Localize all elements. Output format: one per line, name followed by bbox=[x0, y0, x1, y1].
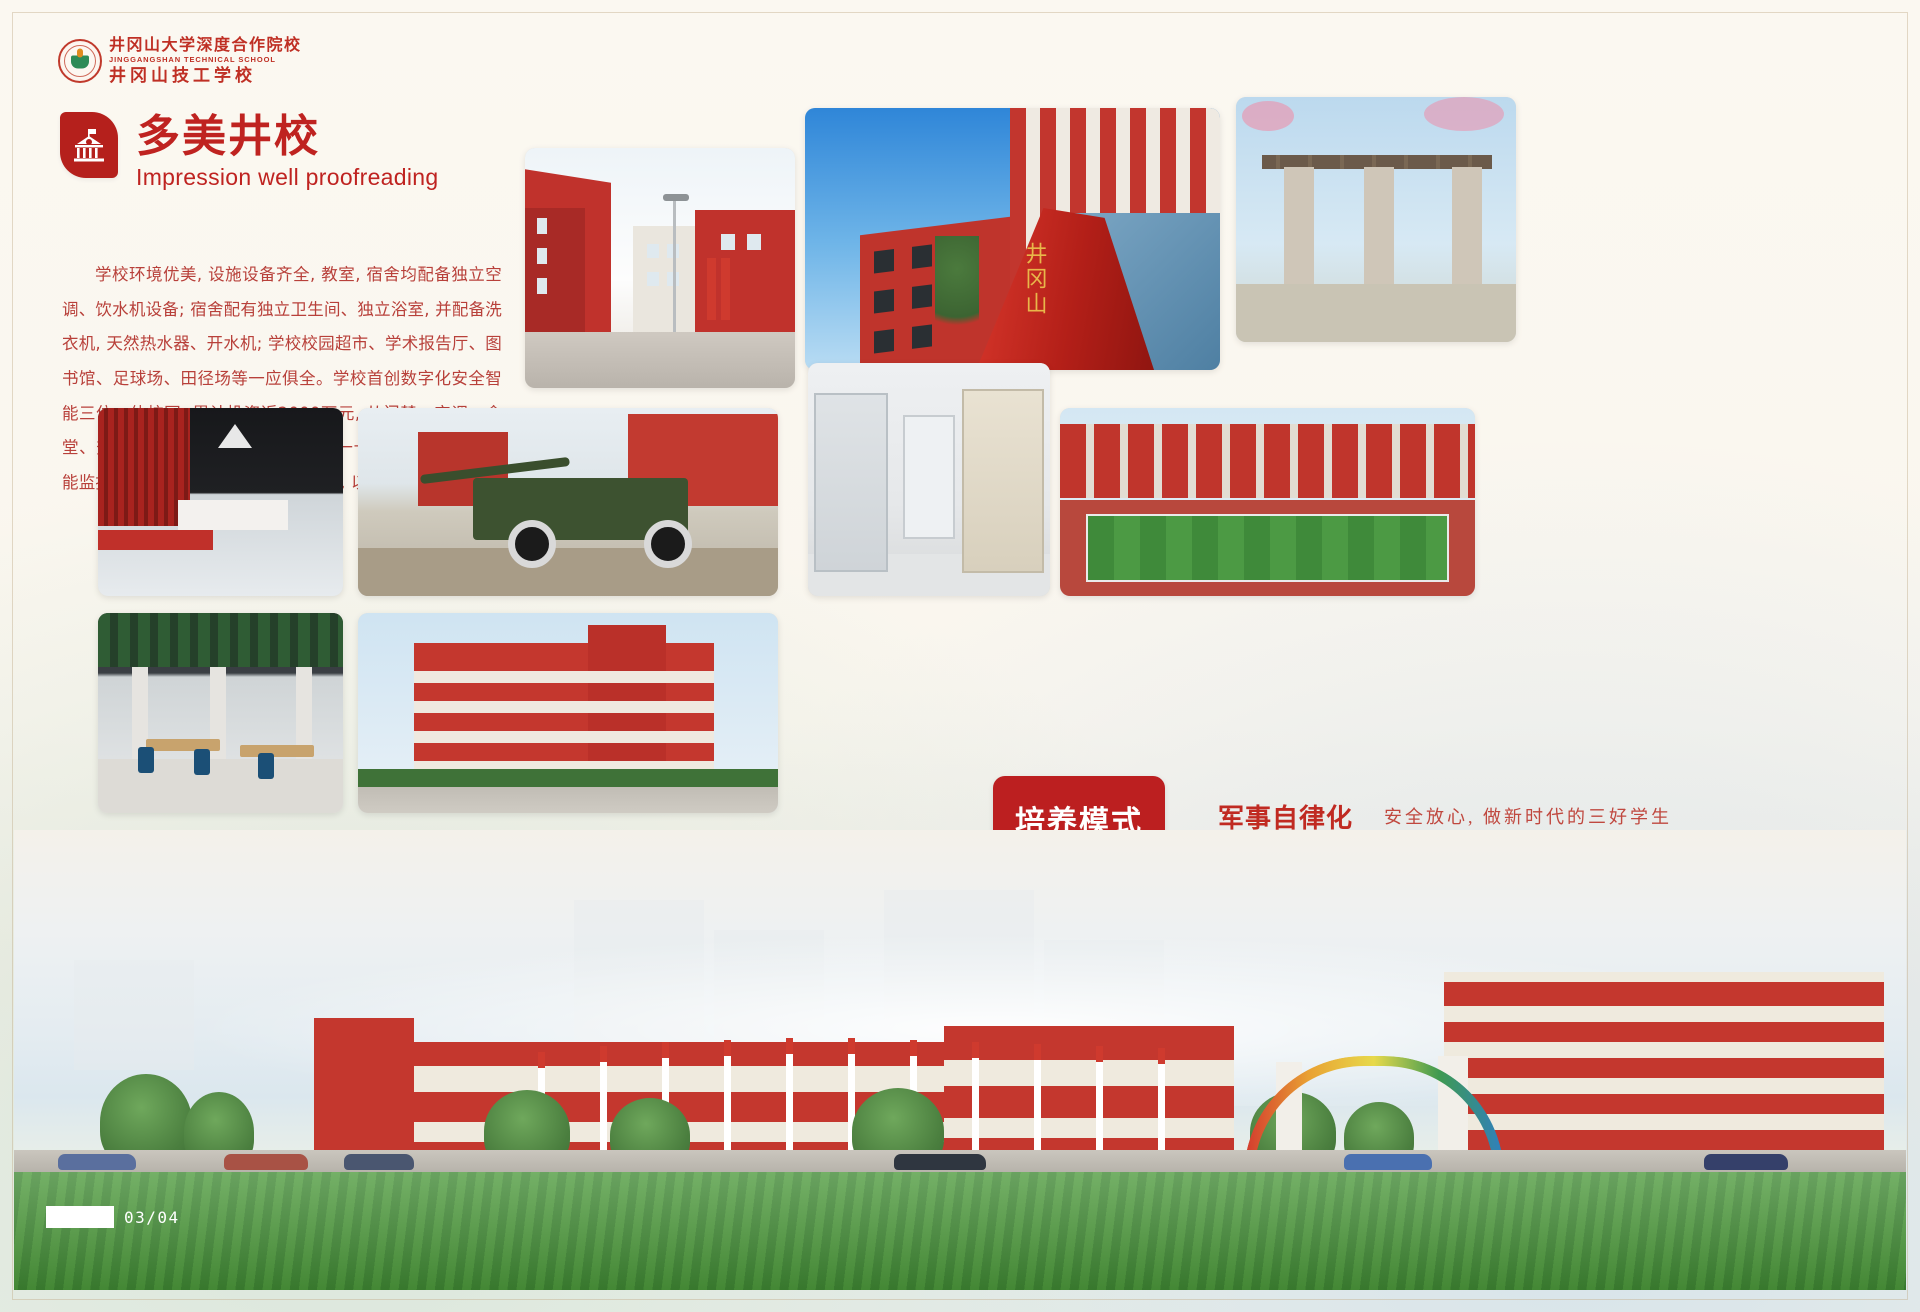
monument-inscription: 井冈山 bbox=[1021, 242, 1049, 317]
page-number-block: 03/04 bbox=[46, 1206, 180, 1228]
title-text-block: 多美井校 Impression well proofreading bbox=[136, 112, 438, 191]
campus-street-photo bbox=[525, 148, 795, 388]
logo-english-line: JINGGANGSHAN TECHNICAL SCHOOL bbox=[109, 56, 302, 64]
page-title: 多美井校 bbox=[136, 114, 438, 160]
logo-school-name: 井冈山技工学校 bbox=[109, 67, 302, 84]
section-header: 多美井校 Impression well proofreading bbox=[60, 112, 438, 191]
main-building-photo bbox=[358, 613, 778, 813]
seal-emblem-icon bbox=[58, 39, 102, 83]
page-background: 井冈山大学深度合作院校 JINGGANGSHAN TECHNICAL SCHOO… bbox=[0, 0, 1920, 1312]
page-subtitle: Impression well proofreading bbox=[136, 164, 438, 191]
campus-panorama-rendering: 03/04 bbox=[14, 830, 1906, 1290]
school-lobby-photo bbox=[98, 408, 343, 596]
page-number-bar bbox=[46, 1206, 114, 1228]
pergola-walkway-photo bbox=[1236, 97, 1516, 342]
artillery-display-photo bbox=[358, 408, 778, 596]
sports-field-photo bbox=[1060, 408, 1475, 596]
school-building-icon bbox=[60, 112, 118, 178]
dormitory-room-photo bbox=[808, 363, 1050, 596]
logo-partner-line: 井冈山大学深度合作院校 bbox=[109, 38, 302, 54]
logo-text-block: 井冈山大学深度合作院校 JINGGANGSHAN TECHNICAL SCHOO… bbox=[109, 38, 302, 84]
canteen-photo bbox=[98, 613, 343, 813]
jinggangshan-monument-photo: 井冈山 bbox=[805, 108, 1220, 370]
page-number: 03/04 bbox=[124, 1208, 180, 1227]
school-logo: 井冈山大学深度合作院校 JINGGANGSHAN TECHNICAL SCHOO… bbox=[58, 38, 302, 84]
